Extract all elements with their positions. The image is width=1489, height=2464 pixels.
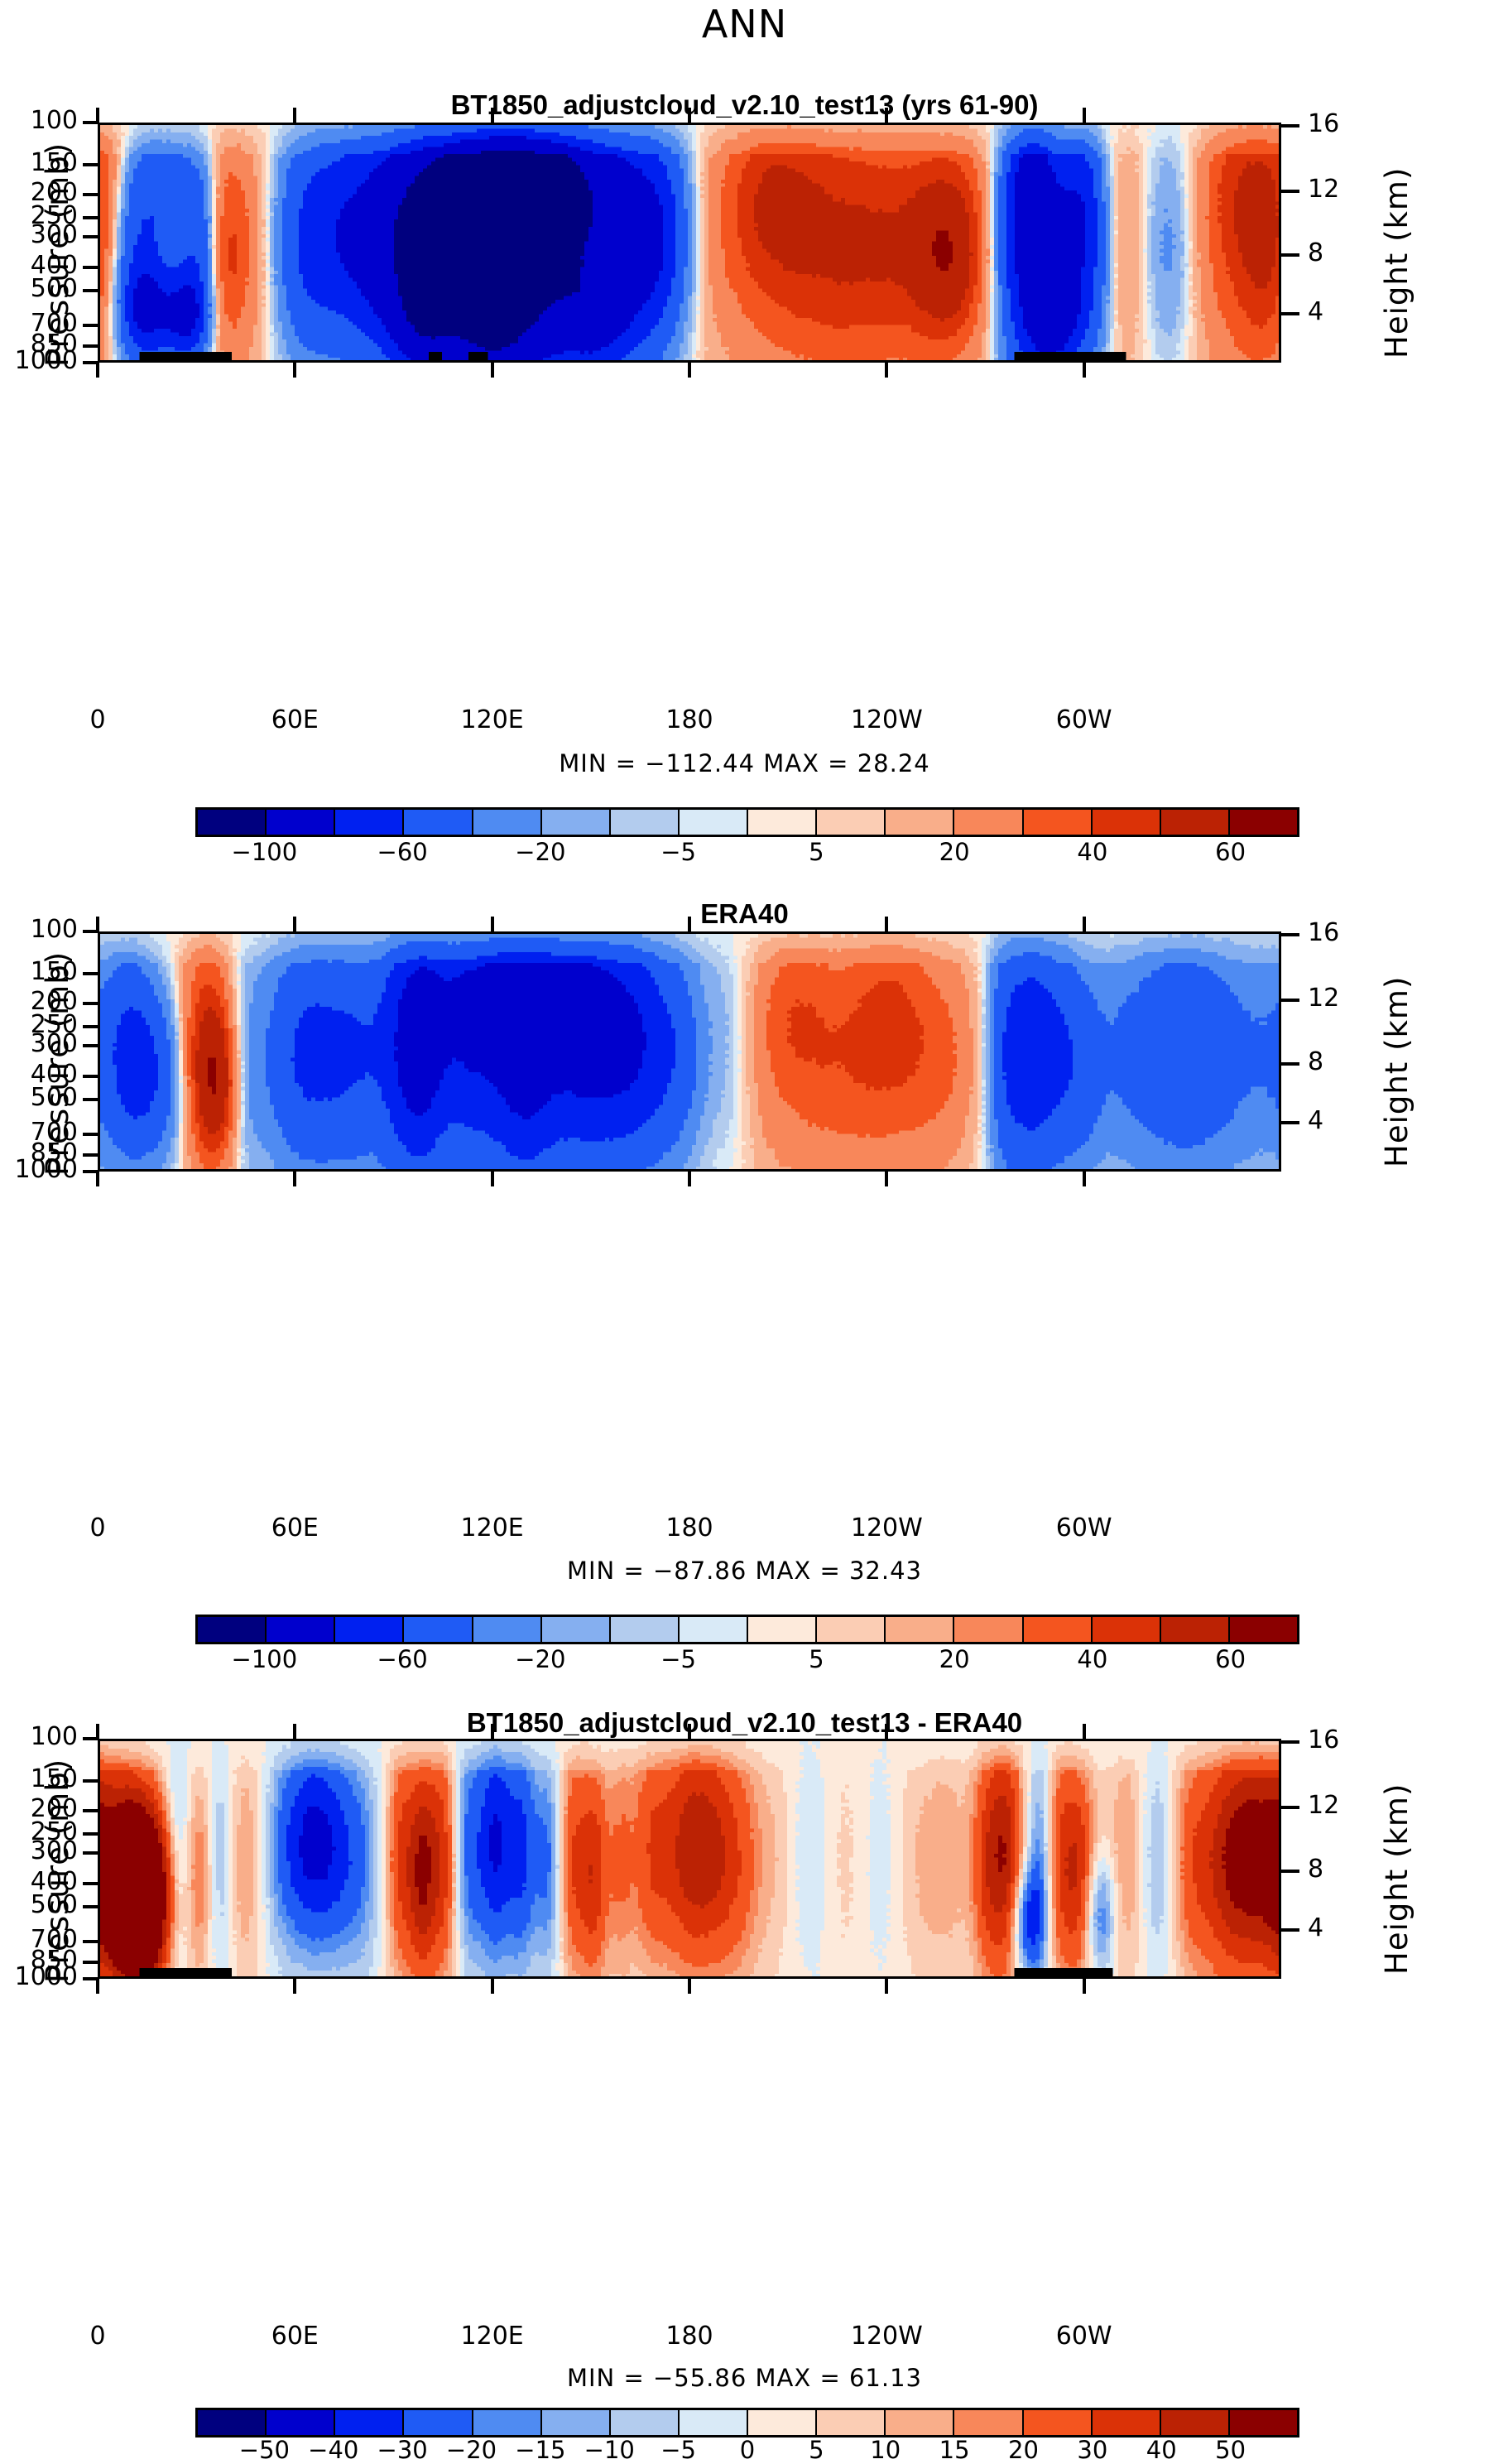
- pressure-tick-mark: [83, 1832, 98, 1836]
- longitude-tick-label: 180: [623, 2322, 756, 2351]
- longitude-tick-label: 120E: [426, 2322, 559, 2351]
- height-tick-mark: [1281, 1928, 1299, 1932]
- height-tick-label: 12: [1308, 984, 1374, 1013]
- pressure-tick-mark: [83, 1002, 98, 1005]
- x-tick-mark-bottom: [1083, 1172, 1086, 1186]
- colorbar-cell: [680, 810, 748, 835]
- colorbar-cell: [611, 810, 680, 835]
- pressure-tick-mark: [83, 1153, 98, 1157]
- x-tick-mark-top: [293, 1724, 296, 1739]
- colorbar-tick-label: 40: [1035, 838, 1150, 866]
- colorbar-tick-label: −20: [483, 1645, 598, 1673]
- pressure-tick-mark: [83, 972, 98, 975]
- height-tick-label: 12: [1308, 1791, 1374, 1820]
- panel-1-colorbar[interactable]: [195, 807, 1299, 837]
- x-tick-mark-bottom: [1083, 363, 1086, 378]
- longitude-tick-label: 180: [623, 1514, 756, 1542]
- longitude-tick-label: 120W: [820, 2322, 953, 2351]
- x-tick-mark-bottom: [885, 363, 888, 378]
- colorbar-cell: [886, 1617, 954, 1642]
- colorbar-cell: [473, 2410, 542, 2435]
- colorbar-cell: [886, 2410, 954, 2435]
- x-tick-mark-bottom: [96, 1172, 99, 1186]
- height-tick-mark: [1281, 253, 1299, 257]
- x-tick-mark-top: [1083, 1724, 1086, 1739]
- x-tick-mark-bottom: [885, 1172, 888, 1186]
- colorbar-cell: [473, 810, 542, 835]
- panel-3-minmax: MIN = −55.86 MAX = 61.13: [0, 2364, 1489, 2392]
- colorbar-cell: [680, 1617, 748, 1642]
- figure-suptitle: ANN: [0, 2, 1489, 46]
- colorbar-cell: [611, 2410, 680, 2435]
- colorbar-cell: [335, 810, 404, 835]
- colorbar-cell: [473, 1617, 542, 1642]
- x-tick-mark-top: [293, 108, 296, 123]
- longitude-tick-label: 0: [31, 705, 164, 734]
- x-tick-mark-top: [885, 108, 888, 123]
- x-tick-mark-top: [96, 1724, 99, 1739]
- colorbar-tick-label: −60: [344, 1645, 460, 1673]
- pressure-tick-mark: [83, 1961, 98, 1964]
- height-tick-mark: [1281, 1806, 1299, 1809]
- colorbar-cell: [335, 1617, 404, 1642]
- height-tick-label: 4: [1308, 297, 1374, 326]
- pressure-axis-title: Pressure (mb): [40, 1759, 75, 1983]
- colorbar-cell: [748, 1617, 817, 1642]
- pressure-tick-mark: [83, 193, 98, 196]
- longitude-tick-label: 120E: [426, 1514, 559, 1542]
- longitude-tick-label: 120E: [426, 705, 559, 734]
- x-tick-mark-bottom: [688, 363, 691, 378]
- longitude-tick-label: 60E: [228, 2322, 361, 2351]
- height-tick-mark: [1281, 1062, 1299, 1066]
- height-tick-label: 4: [1308, 1913, 1374, 1942]
- colorbar-cell: [198, 2410, 267, 2435]
- colorbar-cell: [748, 810, 817, 835]
- colorbar-cell: [954, 810, 1023, 835]
- x-tick-mark-bottom: [96, 1979, 99, 1994]
- longitude-tick-label: 120W: [820, 705, 953, 734]
- panel-2-minmax: MIN = −87.86 MAX = 32.43: [0, 1557, 1489, 1585]
- x-tick-mark-bottom: [96, 363, 99, 378]
- colorbar-cell: [1093, 810, 1161, 835]
- pressure-tick-mark: [83, 289, 98, 292]
- x-tick-mark-top: [1083, 917, 1086, 931]
- longitude-tick-label: 60E: [228, 705, 361, 734]
- colorbar-tick-label: 50: [1173, 2436, 1289, 2464]
- pressure-tick-mark: [83, 266, 98, 269]
- colorbar-cell: [1024, 1617, 1093, 1642]
- height-tick-mark: [1281, 312, 1299, 315]
- pressure-axis-title: Pressure (mb): [40, 142, 75, 367]
- panel-1-title: BT1850_adjustcloud_v2.10_test13 (yrs 61-…: [0, 89, 1489, 121]
- height-tick-label: 8: [1308, 1047, 1374, 1076]
- colorbar-cell: [954, 2410, 1023, 2435]
- height-axis-title: Height (km): [1379, 976, 1415, 1167]
- height-tick-mark: [1281, 190, 1299, 193]
- panel-2-colorbar[interactable]: [195, 1615, 1299, 1644]
- pressure-tick-label: 100: [0, 915, 78, 944]
- x-tick-mark-bottom: [491, 1172, 494, 1186]
- x-tick-mark-top: [491, 108, 494, 123]
- colorbar-cell: [267, 810, 335, 835]
- colorbar-cell: [1230, 2410, 1297, 2435]
- colorbar-cell: [1161, 1617, 1230, 1642]
- colorbar-cell: [404, 2410, 473, 2435]
- longitude-tick-label: 60W: [1018, 1514, 1150, 1542]
- pressure-tick-mark: [83, 1905, 98, 1908]
- colorbar-cell: [1161, 2410, 1230, 2435]
- x-tick-mark-top: [491, 1724, 494, 1739]
- x-tick-mark-bottom: [1083, 1979, 1086, 1994]
- longitude-tick-label: 120W: [820, 1514, 953, 1542]
- pressure-tick-mark: [83, 1025, 98, 1028]
- pressure-tick-mark: [83, 216, 98, 219]
- height-tick-label: 8: [1308, 1855, 1374, 1884]
- colorbar-cell: [1161, 810, 1230, 835]
- longitude-tick-label: 60E: [228, 1514, 361, 1542]
- x-tick-mark-top: [885, 1724, 888, 1739]
- longitude-tick-label: 60W: [1018, 705, 1150, 734]
- height-tick-mark: [1281, 1121, 1299, 1124]
- colorbar-cell: [954, 1617, 1023, 1642]
- pressure-tick-mark: [83, 1779, 98, 1783]
- x-tick-mark-top: [688, 1724, 691, 1739]
- height-tick-label: 8: [1308, 238, 1374, 267]
- x-tick-mark-top: [1083, 108, 1086, 123]
- height-tick-label: 4: [1308, 1106, 1374, 1135]
- colorbar-cell: [1093, 1617, 1161, 1642]
- colorbar-cell: [1024, 2410, 1093, 2435]
- pressure-axis-title: Pressure (mb): [40, 951, 75, 1176]
- x-tick-mark-bottom: [491, 1979, 494, 1994]
- colorbar-cell: [542, 2410, 611, 2435]
- pressure-tick-label: 100: [0, 106, 78, 135]
- x-tick-mark-bottom: [293, 1172, 296, 1186]
- longitude-tick-label: 60W: [1018, 2322, 1150, 2351]
- colorbar-tick-label: 60: [1173, 1645, 1289, 1673]
- pressure-tick-mark: [83, 1882, 98, 1885]
- x-tick-mark-bottom: [688, 1172, 691, 1186]
- longitude-tick-label: 0: [31, 2322, 164, 2351]
- panel-1-plot-area[interactable]: [98, 123, 1281, 363]
- pressure-tick-mark: [83, 344, 98, 348]
- pressure-tick-mark: [83, 1851, 98, 1855]
- figure-canvas: ANN BT1850_adjustcloud_v2.10_test13 (yrs…: [0, 0, 1489, 2463]
- colorbar-tick-label: −100: [206, 1645, 322, 1673]
- height-axis-title: Height (km): [1379, 167, 1415, 359]
- colorbar-cell: [267, 1617, 335, 1642]
- x-tick-mark-top: [688, 108, 691, 123]
- colorbar-cell: [817, 810, 886, 835]
- colorbar-cell: [1024, 810, 1093, 835]
- pressure-tick-mark: [83, 1940, 98, 1943]
- colorbar-cell: [817, 2410, 886, 2435]
- colorbar-cell: [404, 1617, 473, 1642]
- pressure-tick-mark: [83, 235, 98, 238]
- colorbar-cell: [542, 810, 611, 835]
- colorbar-tick-label: −100: [206, 838, 322, 866]
- colorbar-cell: [404, 810, 473, 835]
- pressure-tick-mark: [83, 1075, 98, 1078]
- colorbar-tick-label: −60: [344, 838, 460, 866]
- colorbar-cell: [542, 1617, 611, 1642]
- height-tick-mark: [1281, 1740, 1299, 1744]
- pressure-tick-mark: [83, 1133, 98, 1136]
- colorbar-cell: [267, 2410, 335, 2435]
- pressure-tick-label: 100: [0, 1722, 78, 1751]
- height-tick-label: 16: [1308, 109, 1374, 138]
- height-tick-mark: [1281, 124, 1299, 128]
- pressure-tick-mark: [83, 324, 98, 327]
- colorbar-cell: [335, 2410, 404, 2435]
- panel-2-title: ERA40: [0, 898, 1489, 930]
- colorbar-tick-label: −20: [483, 838, 598, 866]
- x-tick-mark-top: [293, 917, 296, 931]
- colorbar-tick-label: 5: [758, 1645, 874, 1673]
- panel-3-plot-area[interactable]: [98, 1739, 1281, 1979]
- colorbar-cell: [886, 810, 954, 835]
- height-tick-mark: [1281, 999, 1299, 1002]
- colorbar-tick-label: 5: [758, 838, 874, 866]
- x-tick-mark-top: [96, 108, 99, 123]
- colorbar-tick-label: 20: [896, 1645, 1012, 1673]
- colorbar-cell: [680, 2410, 748, 2435]
- height-tick-mark: [1281, 933, 1299, 936]
- x-tick-mark-top: [491, 917, 494, 931]
- height-tick-label: 12: [1308, 175, 1374, 204]
- panel-2-plot-area[interactable]: [98, 931, 1281, 1172]
- height-tick-mark: [1281, 1870, 1299, 1873]
- x-tick-mark-top: [96, 917, 99, 931]
- x-tick-mark-bottom: [293, 363, 296, 378]
- longitude-tick-label: 0: [31, 1514, 164, 1542]
- pressure-tick-mark: [83, 1098, 98, 1101]
- colorbar-tick-label: 40: [1035, 1645, 1150, 1673]
- panel-1-minmax: MIN = −112.44 MAX = 28.24: [0, 749, 1489, 777]
- x-tick-mark-top: [885, 917, 888, 931]
- colorbar-cell: [748, 2410, 817, 2435]
- colorbar-tick-label: −5: [621, 838, 737, 866]
- colorbar-cell: [611, 1617, 680, 1642]
- colorbar-cell: [1230, 810, 1297, 835]
- pressure-tick-mark: [83, 163, 98, 166]
- panel-3-colorbar[interactable]: [195, 2408, 1299, 2438]
- x-tick-mark-bottom: [491, 363, 494, 378]
- height-tick-label: 16: [1308, 918, 1374, 947]
- colorbar-cell: [817, 1617, 886, 1642]
- panel-3-title: BT1850_adjustcloud_v2.10_test13 - ERA40: [0, 1707, 1489, 1739]
- colorbar-cell: [1093, 2410, 1161, 2435]
- longitude-tick-label: 180: [623, 705, 756, 734]
- colorbar-cell: [198, 1617, 267, 1642]
- pressure-tick-mark: [83, 1044, 98, 1047]
- x-tick-mark-bottom: [293, 1979, 296, 1994]
- x-tick-mark-top: [688, 917, 691, 931]
- colorbar-cell: [1230, 1617, 1297, 1642]
- height-axis-title: Height (km): [1379, 1783, 1415, 1975]
- colorbar-tick-label: 60: [1173, 838, 1289, 866]
- height-tick-label: 16: [1308, 1725, 1374, 1754]
- pressure-tick-mark: [83, 1809, 98, 1812]
- x-tick-mark-bottom: [688, 1979, 691, 1994]
- colorbar-tick-label: 20: [896, 838, 1012, 866]
- colorbar-cell: [198, 810, 267, 835]
- x-tick-mark-bottom: [885, 1979, 888, 1994]
- colorbar-tick-label: −5: [621, 1645, 737, 1673]
